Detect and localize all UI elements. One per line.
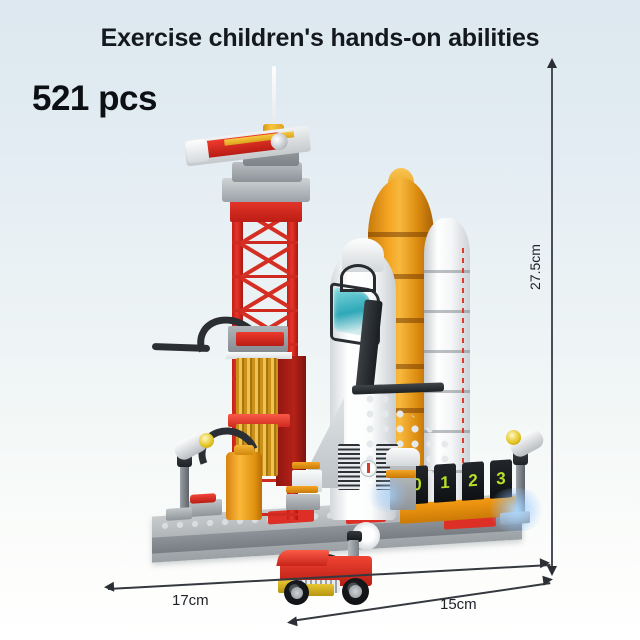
console-orange-strip [386,470,416,478]
left-spotlight-lens [199,433,214,448]
tower-diagonal [240,280,290,312]
pad-gray-block [286,494,320,510]
tank-seam [368,232,434,237]
console-screen [386,448,420,466]
brick-model: 0 1 2 3 [0,0,640,640]
tower-diagonal [240,246,290,278]
countdown-digit-2: 2 [462,461,484,501]
height-arrow-top [547,58,557,68]
pad-orange-strip [292,462,320,469]
orbiter-decal [360,460,377,477]
rover-hood [276,550,329,566]
booster-red-dashes [462,248,464,488]
crane-arm-end-cap [185,139,210,164]
tower-gold-pipes-upper [236,358,278,416]
width-dimension-label: 17cm [172,592,209,609]
left-red-knob [190,493,216,504]
height-dimension-label: 27.5cm [527,244,543,290]
depth-dimension-label: 15cm [440,596,477,613]
tower-hose-arm [152,343,210,352]
ground-fuel-tank [226,452,262,520]
width-arrow-right [540,558,551,569]
tower-mid-red [236,332,284,346]
orbiter-vent-left [338,444,360,490]
depth-arrow-left [286,616,297,627]
orbiter-hatch-arch [340,264,376,292]
rover-wheel-right [342,578,369,605]
pad-glow [366,478,410,512]
product-image: Exercise children's hands-on abilities 5… [0,0,640,640]
depth-arrow-right [542,574,553,585]
rover-wheel-left [284,580,309,605]
left-spotlight-base [166,507,192,521]
right-spotlight-lens [506,430,521,445]
right-spotlight-glow [486,488,546,532]
pad-orange-strip-2 [286,486,318,493]
width-arrow-left [104,582,115,593]
height-dimension-line [551,62,553,574]
countdown-digit-1: 1 [434,463,456,503]
